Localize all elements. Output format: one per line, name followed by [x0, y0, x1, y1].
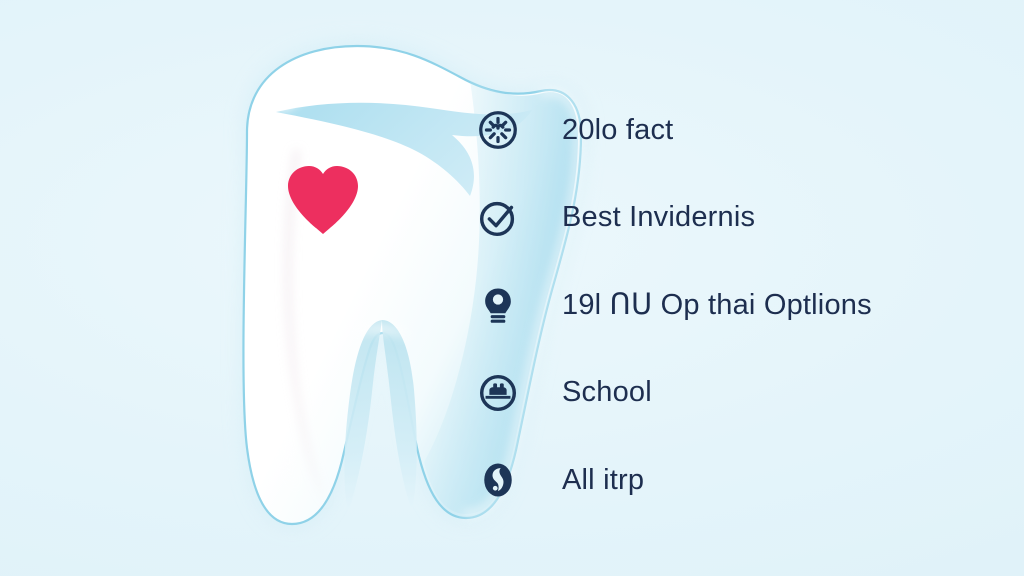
list-item-label: School [562, 378, 652, 407]
lightbulb-icon [468, 275, 528, 335]
list-item[interactable]: All itrp [468, 450, 1008, 510]
list-item-label: Best Invidernis [562, 203, 755, 232]
list-item-label: 19l ՈՍ Op thai Optlions [562, 291, 872, 320]
check-circle-icon [468, 188, 528, 248]
clock-circle-icon [468, 100, 528, 160]
tooth-oval-icon [468, 450, 528, 510]
infographic-canvas: 20lo fact Best Invidernis 19l ՈՍ Op [0, 0, 1024, 576]
list-item[interactable]: Best Invidernis [468, 188, 1008, 248]
list-item-label: 20lo fact [562, 116, 673, 145]
feature-list: 20lo fact Best Invidernis 19l ՈՍ Op [468, 100, 1008, 510]
list-item[interactable]: School [468, 363, 1008, 423]
list-item[interactable]: 20lo fact [468, 100, 1008, 160]
dental-chair-circle-icon [468, 363, 528, 423]
list-item-label: All itrp [562, 466, 644, 495]
list-item[interactable]: 19l ՈՍ Op thai Optlions [468, 275, 1008, 335]
